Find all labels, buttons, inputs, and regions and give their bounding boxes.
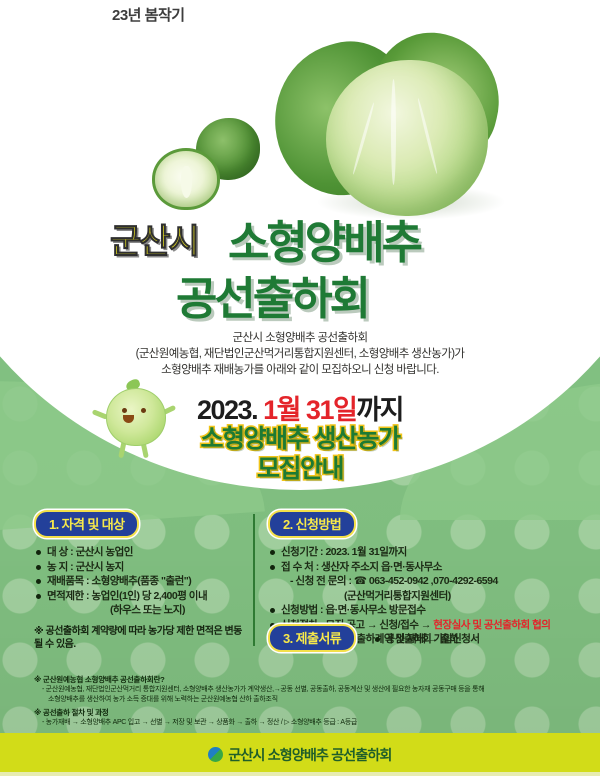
list-item-phone: - 신청 전 문의 : ☎ 063-452-0942 ,070-4292-659… — [268, 574, 588, 589]
cabbage-vein — [351, 102, 375, 175]
title-line-2: 공선출하회 — [176, 262, 368, 327]
list-item-continuation: (군산먹거리통합지원센터) — [268, 589, 588, 604]
description-block: 군산시 소형양배추 공선출하회 (군산원예농협, 재단법인군산먹거리통합지원센터… — [0, 330, 600, 378]
deadline-date: 1월 31일 — [263, 395, 356, 425]
footnote-line: - 농가재배 → 소형양배추 APC 입고 → 선별 → 저장 및 보관 → 상… — [34, 718, 574, 728]
cabbage-vein — [391, 79, 396, 185]
description-line: 소형양배추 재배농가를 아래와 같이 모집하오니 신청 바랍니다. — [0, 362, 600, 378]
poster-root: 23년 봄작기 군산시 소형양배추 공선출하회 군산시 소형양배추 공선출하회 … — [0, 0, 600, 776]
information-panel: 1. 자격 및 대상 대 상 : 군산시 농업인 농 지 : 군산시 농지 재배… — [0, 504, 600, 674]
list-item: 접 수 처 : 생산자 주소지 읍·면·동사무소 — [268, 560, 588, 575]
list-item-continuation: (하우스 또는 노지) — [34, 603, 244, 618]
list-item: 면적제한 : 농업인(1인) 당 2,400평 이내 — [34, 589, 244, 604]
list-item: 신청기간 : 2023. 1월 31일까지 — [268, 545, 588, 560]
footer-title: 군산시 소형양배추 공선출하회 — [228, 745, 391, 765]
description-line: (군산원예농협, 재단법인군산먹거리통합지원센터, 소형양배추 생산농가)가 — [0, 346, 600, 362]
deadline-text: 2023. 1월 31일까지 — [0, 388, 600, 427]
cabbage-photo — [268, 34, 500, 220]
headline-line-1: 소형양배추 생산농가 — [0, 424, 600, 454]
deadline-suffix: 까지 — [356, 395, 403, 425]
section1-list: 대 상 : 군산시 농업인 농 지 : 군산시 농지 재배품목 : 소형양배추(… — [34, 545, 244, 618]
city-name: 군산시 — [110, 214, 198, 263]
section2-badge: 2. 신청방법 — [268, 510, 356, 538]
footnote-line: 소형양배추를 생산하여 농가 소득 증대를 위해 노력하는 군산원예농협 산하 … — [34, 695, 574, 705]
gunsan-logo-icon — [208, 747, 223, 762]
list-item: 농 지 : 군산시 농지 — [34, 560, 244, 575]
description-line: 군산시 소형양배추 공선출하회 — [0, 330, 600, 346]
footer-bottom-edge — [0, 772, 600, 776]
halved-cabbage — [152, 148, 220, 210]
column-divider — [253, 514, 255, 646]
section-qualification: 1. 자격 및 대상 대 상 : 군산시 농업인 농 지 : 군산시 농지 재배… — [34, 510, 244, 652]
footer-bar: 군산시 소형양배추 공선출하회 — [0, 733, 600, 776]
section3-badge: 3. 제출서류 — [268, 624, 356, 652]
section3-item: 공선출하회 가입신청서 — [375, 631, 480, 646]
footnotes-block: ※ 군산원예농협 소형양배추 공선출하회란? - 군산원예농협, 재단법인군산먹… — [34, 672, 574, 728]
deadline-year: 2023. — [197, 395, 263, 425]
mascot-eye-left — [122, 408, 127, 413]
list-item: 대 상 : 군산시 농업인 — [34, 545, 244, 560]
mascot-body — [106, 388, 166, 446]
headline-line-2: 모집안내 — [0, 454, 600, 484]
footnote-heading: ※ 군산원예농협 소형양배추 공선출하회란? — [34, 675, 574, 685]
cabbage-vein — [417, 98, 439, 174]
section1-badge: 1. 자격 및 대상 — [34, 510, 139, 538]
footnote-line: - 군산원예농협, 재단법인군산먹거리 통합지원센터, 소형양배추 생산농가가 … — [34, 685, 574, 695]
cabbage-head — [326, 60, 488, 216]
list-item: 신청방법 : 읍·면·동사무소 방문접수 — [268, 603, 588, 618]
list-item: 재배품목 : 소형양배추(품종 "출런") — [34, 574, 244, 589]
footnote-heading: ※ 공선출하 절차 및 과정 — [34, 708, 574, 718]
cabbage-core — [181, 166, 192, 198]
section1-note: ※ 공선출하회 계약량에 따라 농가당 제한 면적은 변동될 수 있음. — [34, 625, 244, 652]
recruit-headline: 소형양배추 생산농가 모집안내 — [0, 424, 600, 484]
section-documents: 3. 제출서류 공선출하회 가입신청서 — [268, 624, 588, 652]
cabbage-mascot-icon — [96, 382, 174, 468]
kicker-text: 23년 봄작기 — [112, 4, 185, 25]
mascot-eye-right — [141, 408, 146, 413]
